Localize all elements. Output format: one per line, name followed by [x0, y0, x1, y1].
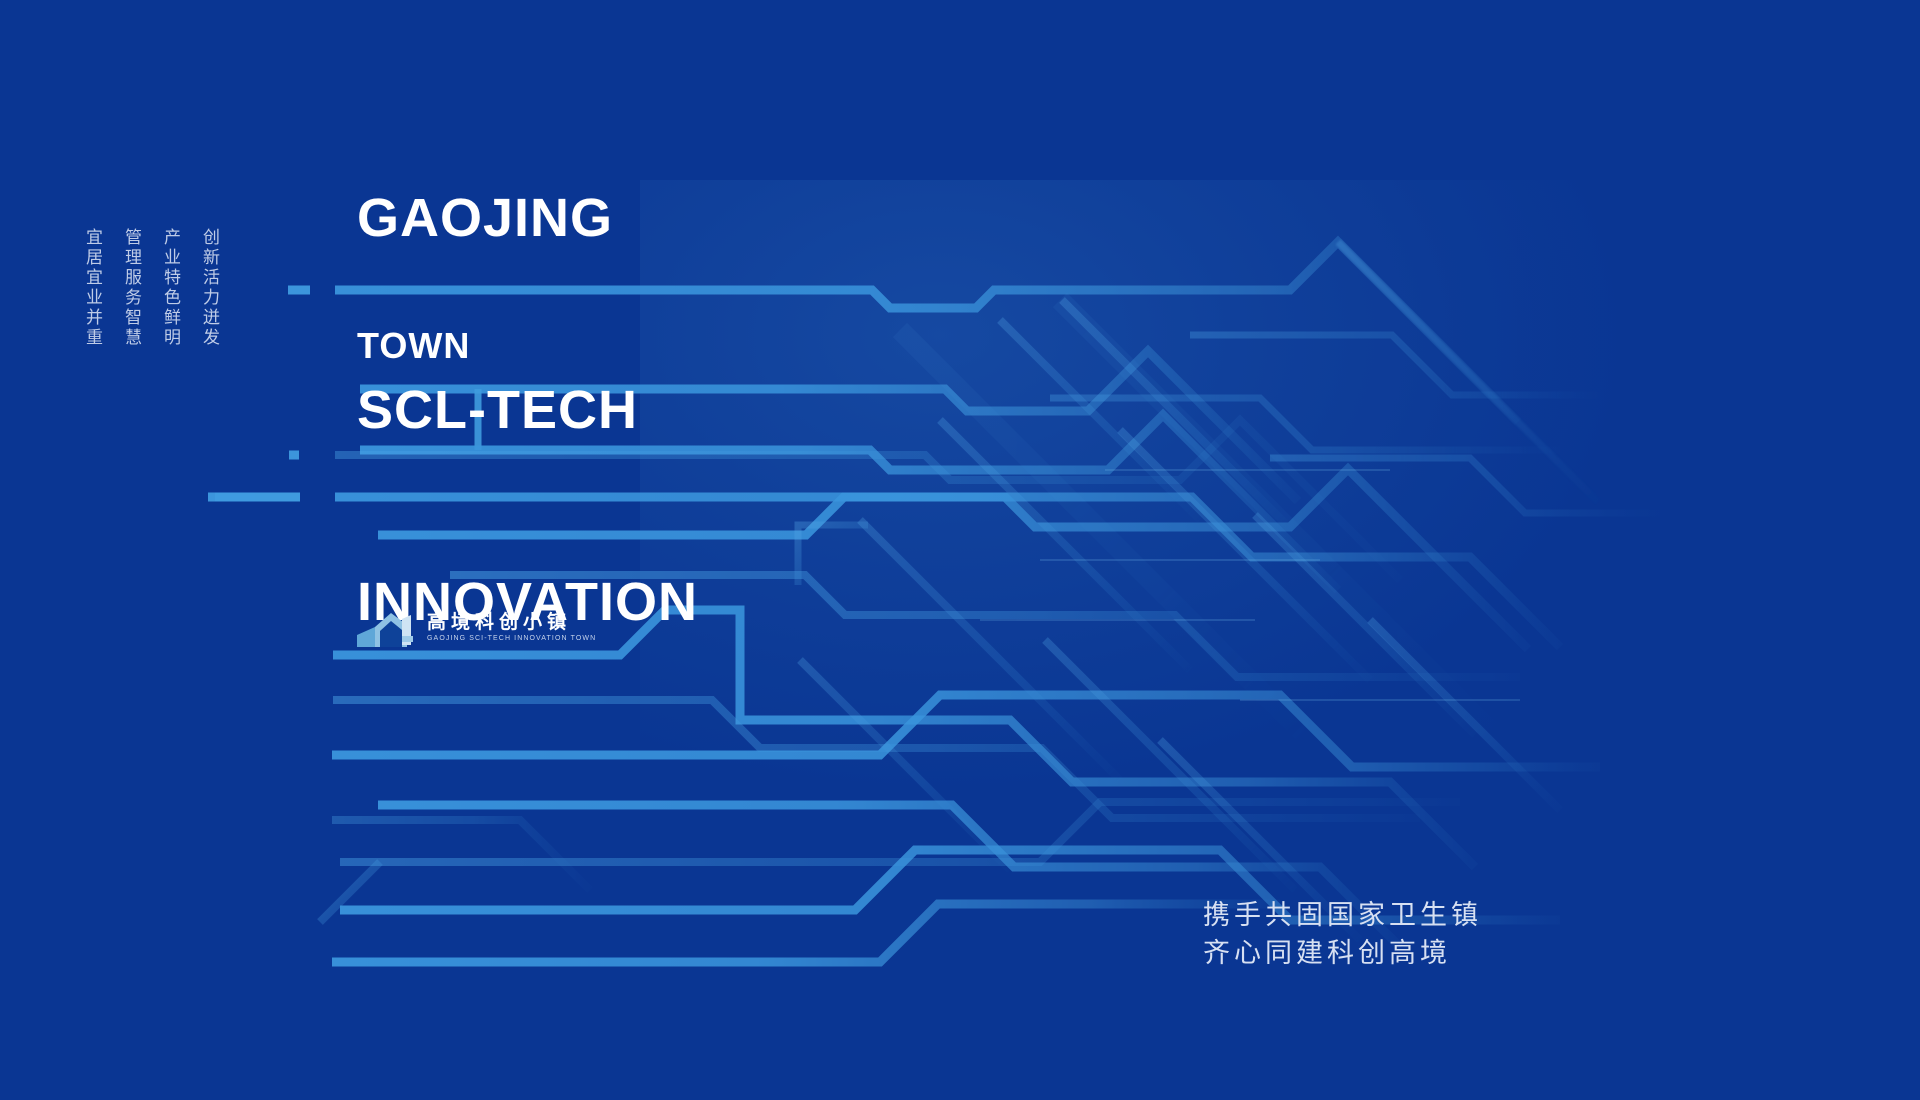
logo-chinese-name: 高境科创小镇: [427, 612, 596, 632]
vertical-slogan: 创新活力迸发 产业特色鲜明 管理服务智慧 宜居宜业并重: [80, 228, 222, 348]
vertical-slogan-col-3: 管理服务智慧: [119, 228, 144, 348]
bottom-slogan: 携手共固国家卫生镇 齐心同建科创高境: [1203, 897, 1482, 973]
vertical-slogan-col-1: 创新活力迸发: [197, 228, 222, 348]
poster-canvas: 创新活力迸发 产业特色鲜明 管理服务智慧 宜居宜业并重 GAOJING SCL-…: [0, 0, 1920, 1100]
headline-line-1: GAOJING: [357, 186, 698, 250]
logo-english-name: GAOJING SCI-TECH INNOVATION TOWN: [427, 634, 596, 643]
logo: 高境科创小镇 GAOJING SCI-TECH INNOVATION TOWN: [355, 605, 596, 649]
vertical-slogan-col-4: 宜居宜业并重: [80, 228, 105, 348]
headline-line-4: TOWN: [357, 325, 470, 367]
bottom-slogan-line-2: 齐心同建科创高境: [1203, 935, 1482, 973]
logo-text: 高境科创小镇 GAOJING SCI-TECH INNOVATION TOWN: [427, 612, 596, 643]
vertical-slogan-col-2: 产业特色鲜明: [158, 228, 183, 348]
bottom-slogan-line-1: 携手共固国家卫生镇: [1203, 897, 1482, 935]
page-title: GAOJING SCL-TECH INNOVATION: [357, 58, 698, 762]
house-building-mark-icon: [355, 605, 417, 649]
circuit-board-pattern: [0, 0, 1920, 1100]
headline-line-2: SCL-TECH: [357, 378, 698, 442]
